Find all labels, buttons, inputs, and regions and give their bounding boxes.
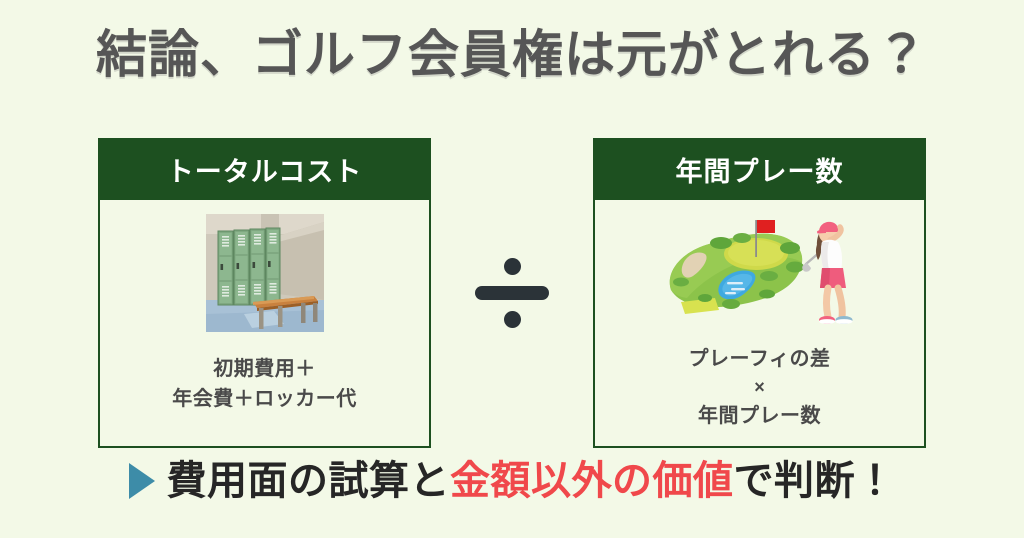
card-annual-plays-header: 年間プレー数 (595, 140, 924, 200)
card-annual-plays: 年間プレー数 (593, 138, 926, 448)
division-dot-top (504, 258, 521, 275)
card-total-cost: トータルコスト (98, 138, 431, 448)
division-sign-icon (475, 256, 549, 330)
card-annual-plays-caption-line1: プレーフィの差 (689, 344, 831, 374)
page-title: 結論、ゴルフ会員権は元がとれる？ (0, 26, 1024, 85)
card-annual-plays-caption-multiply: × (689, 374, 831, 401)
footer-text-before: 費用面の試算と (167, 459, 451, 503)
comparison-cards-row: トータルコスト (0, 138, 1024, 450)
card-total-cost-body: 初期費用＋ 年会費＋ロッカー代 (100, 200, 429, 446)
footer-conclusion: 費用面の試算と金額以外の価値で判断！ (0, 459, 1024, 503)
play-triangle-icon (129, 463, 155, 499)
footer-text-highlight: 金額以外の価値 (450, 459, 734, 503)
card-annual-plays-caption-line3: 年間プレー数 (689, 401, 831, 431)
slide-canvas: 結論、ゴルフ会員権は元がとれる？ トータルコスト (0, 0, 1024, 538)
card-total-cost-caption-line2: 年会費＋ロッカー代 (172, 384, 357, 414)
footer-text: 費用面の試算と金額以外の価値で判断！ (167, 459, 896, 503)
golf-course-golfer-icon (657, 214, 862, 332)
locker-room-icon (206, 214, 324, 332)
card-annual-plays-caption: プレーフィの差 × 年間プレー数 (689, 344, 831, 431)
division-bar (475, 286, 549, 300)
division-dot-bottom (504, 311, 521, 328)
divide-operator (431, 138, 593, 448)
card-annual-plays-body: プレーフィの差 × 年間プレー数 (595, 200, 924, 446)
card-total-cost-caption-line1: 初期費用＋ (172, 354, 357, 384)
footer-text-after: で判断！ (734, 459, 896, 503)
card-total-cost-header: トータルコスト (100, 140, 429, 200)
card-total-cost-caption: 初期費用＋ 年会費＋ロッカー代 (172, 354, 357, 414)
